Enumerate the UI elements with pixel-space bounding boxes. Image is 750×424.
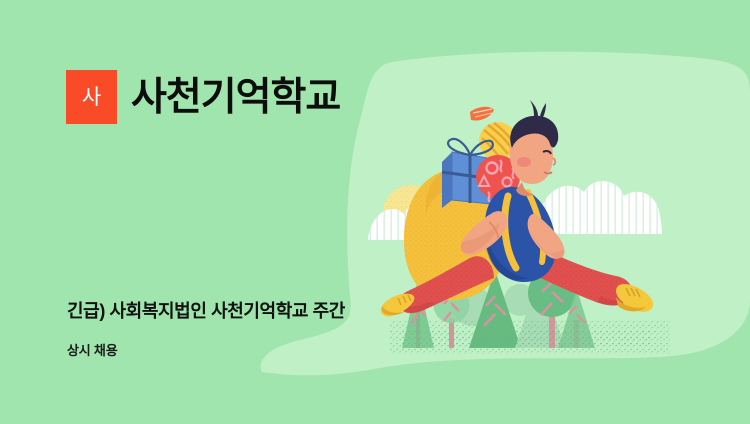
ground-texture [390, 320, 670, 354]
brand-header[interactable]: 사 사천기억학교 [66, 70, 340, 124]
job-subline[interactable]: 상시 채용 [67, 340, 117, 359]
brand-logo-mark: 사 [66, 70, 117, 124]
brand-name: 사천기억학교 [131, 78, 340, 117]
job-posting-banner: 사 사천기억학교 긴급) 사회복지법인 사천기억학교 주간 상시 채용 [0, 0, 750, 424]
brand-logo-character: 사 [82, 87, 101, 108]
job-headline[interactable]: 긴급) 사회복지법인 사천기억학교 주간 [67, 297, 345, 323]
illustration [0, 0, 750, 424]
